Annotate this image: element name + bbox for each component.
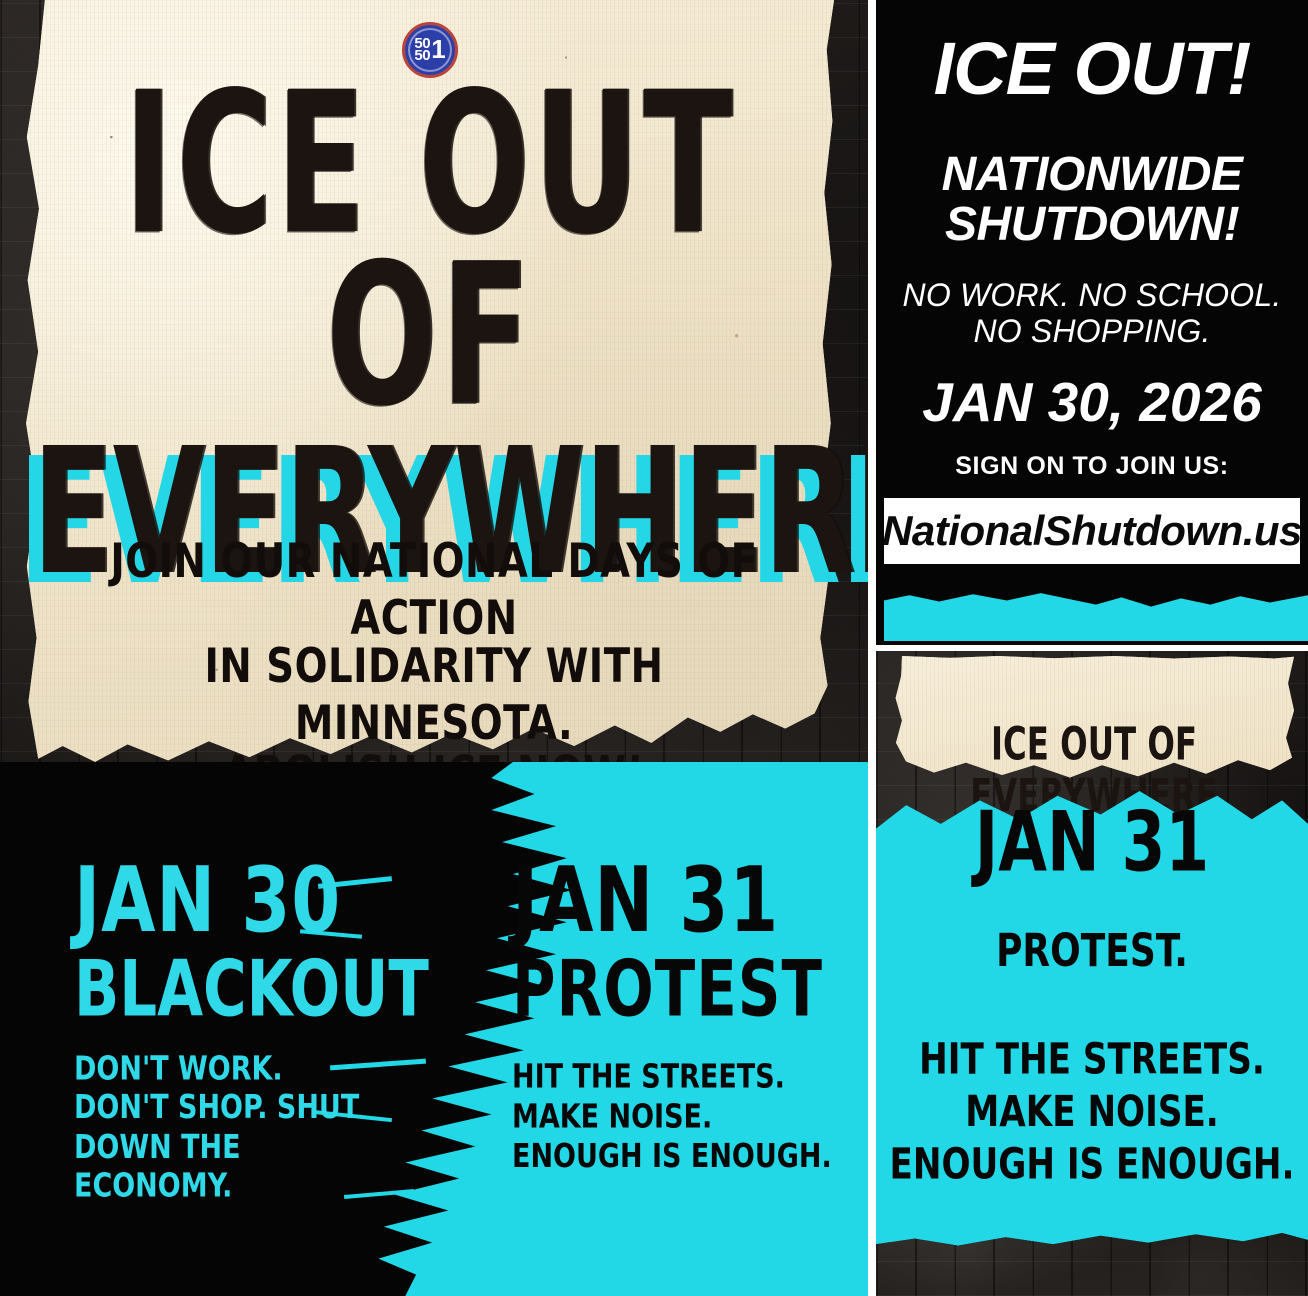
jan31-detail-line-1: Hit the streets. <box>512 1058 842 1098</box>
shutdown-subtitle-line-1: Nationwide <box>876 150 1308 200</box>
protest-content: Jan 31 Protest. Hit the streets. Make no… <box>876 801 1308 1174</box>
jan31-action: Protest <box>512 954 842 1026</box>
shutdown-subtitle: Nationwide Shutdown! <box>876 150 1308 251</box>
jan30-date: Jan 30 <box>74 860 374 943</box>
jan30-block: Jan 30 Blackout Don't work. Don't shop. … <box>74 860 374 1192</box>
jan30-detail: Don't work. Don't shop. Shut down the ec… <box>74 1050 374 1206</box>
shutdown-detail-line-2: No shopping. <box>876 314 1308 350</box>
shutdown-subtitle-line-2: Shutdown! <box>876 200 1308 250</box>
subtext-line-2: in solidarity with Minnesota. <box>60 638 808 753</box>
subtext-line-1: Join our national days of action <box>60 533 808 648</box>
sign-on-cta: Sign on to join us: <box>876 452 1308 481</box>
ice-out-title: ICE OUT! <box>876 34 1308 104</box>
jan31-detail-line-2: Make noise. <box>512 1098 842 1138</box>
jan31-detail-line-3: Enough is enough. <box>512 1138 842 1178</box>
jan31-block: Jan 31 Protest Hit the streets. Make noi… <box>512 860 842 1166</box>
dates-banner: Jan 30 Blackout Don't work. Don't shop. … <box>0 762 868 1296</box>
nationwide-shutdown-card: ICE OUT! Nationwide Shutdown! No work. N… <box>876 0 1308 645</box>
shutdown-detail-line-1: No work. No school. <box>876 278 1308 314</box>
headline-line-one: ICE OUT OF <box>48 78 812 422</box>
jan31-detail: Hit the streets. Make noise. Enough is e… <box>512 1058 842 1177</box>
brush-shard-dark <box>396 907 452 919</box>
protest-date: Jan 31 <box>876 801 1308 884</box>
card-black-gap <box>884 564 1308 596</box>
main-poster-panel: 50 50 1 ICE OUT OF EVERYWHERE EVERYWHERE… <box>0 0 868 1296</box>
protest-detail-line-3: Enough is enough. <box>876 1139 1308 1192</box>
poster-headline: ICE OUT OF EVERYWHERE EVERYWHERE <box>40 78 820 606</box>
protest-detail: Hit the streets. Make noise. Enough is e… <box>876 1033 1308 1191</box>
poster-collage: 50 50 1 ICE OUT OF EVERYWHERE EVERYWHERE… <box>0 0 1308 1296</box>
jan30-action: Blackout <box>74 954 374 1026</box>
protest-detail-line-1: Hit the streets. <box>876 1033 1308 1086</box>
panel-divider-horizontal <box>868 645 1308 651</box>
shutdown-url-link[interactable]: NationalShutdown.us <box>882 507 1302 555</box>
url-band[interactable]: NationalShutdown.us <box>884 498 1300 564</box>
shutdown-date: Jan 30, 2026 <box>876 370 1308 434</box>
protest-label: Protest. <box>876 925 1308 977</box>
cyan-accent-band <box>884 589 1308 641</box>
poster-subtext: Join our national days of action in soli… <box>60 538 808 800</box>
protest-detail-line-2: Make noise. <box>876 1086 1308 1139</box>
shutdown-details: No work. No school. No shopping. <box>876 278 1308 350</box>
jan31-date: Jan 31 <box>512 860 842 943</box>
jan31-protest-card: 50 50 1 ICE OUT OF EVERYWHERE Jan 31 Pro… <box>876 651 1308 1296</box>
